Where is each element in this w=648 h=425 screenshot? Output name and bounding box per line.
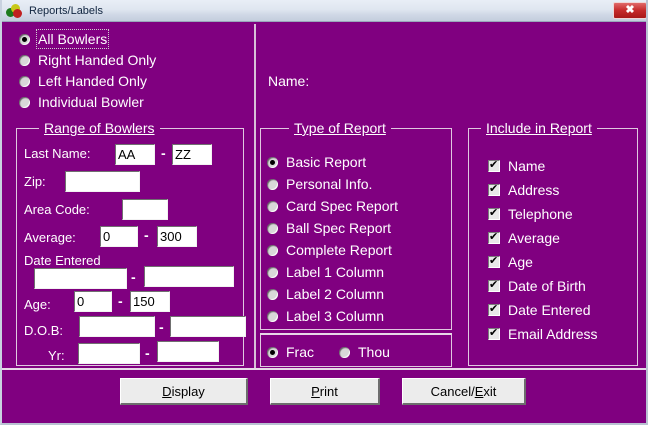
radio-indicator — [267, 223, 278, 234]
dob-separator: - — [159, 319, 164, 335]
display-button-label: Display — [162, 384, 205, 399]
checkbox-label: Date of Birth — [508, 278, 586, 294]
print-button[interactable]: Print — [270, 378, 380, 405]
average-to-input[interactable]: 300 — [157, 226, 197, 247]
zip-input[interactable] — [65, 171, 140, 192]
cancel-exit-button-label: Cancel/Exit — [431, 384, 497, 399]
checkbox-label: Address — [508, 182, 559, 198]
radio-indicator — [19, 97, 30, 108]
checkbox-email-address[interactable]: Email Address — [488, 326, 597, 342]
reports-labels-window: Reports/Labels ✖ All Bowlers Right Hande… — [0, 0, 648, 425]
footer-divider — [2, 368, 648, 370]
last-name-label: Last Name: — [24, 146, 90, 161]
checkbox-label: Average — [508, 230, 560, 246]
age-from-input[interactable]: 0 — [74, 291, 112, 312]
yr-to-input[interactable] — [157, 341, 219, 362]
radio-label: Right Handed Only — [38, 52, 156, 68]
average-label: Average: — [24, 230, 76, 245]
radio-label: Ball Spec Report — [286, 220, 391, 236]
yr-from-input[interactable] — [78, 343, 140, 364]
radio-label: Card Spec Report — [286, 198, 398, 214]
checkbox-label: Date Entered — [508, 302, 591, 318]
checkbox-indicator — [488, 232, 500, 244]
range-of-bowlers-title: Range of Bowlers — [39, 120, 160, 136]
checkbox-age[interactable]: Age — [488, 254, 533, 270]
radio-label-3-column[interactable]: Label 3 Column — [267, 308, 384, 324]
radio-label-1-column[interactable]: Label 1 Column — [267, 264, 384, 280]
close-button[interactable]: ✖ — [613, 2, 647, 19]
bowling-pins-icon — [6, 3, 22, 19]
dob-to-input[interactable] — [170, 316, 246, 337]
radio-label: Basic Report — [286, 154, 366, 170]
age-label: Age: — [24, 297, 51, 312]
checkbox-indicator — [488, 304, 500, 316]
checkbox-telephone[interactable]: Telephone — [488, 206, 573, 222]
display-button[interactable]: Display — [120, 378, 248, 405]
close-icon: ✖ — [625, 5, 634, 16]
radio-left-handed-only[interactable]: Left Handed Only — [19, 73, 147, 89]
checkbox-name[interactable]: Name — [488, 158, 545, 174]
radio-label: Label 2 Column — [286, 286, 384, 302]
print-button-label: Print — [311, 384, 338, 399]
last-name-from-input[interactable]: AA — [115, 144, 155, 165]
yr-separator: - — [145, 345, 150, 361]
date-entered-from-input[interactable] — [34, 268, 127, 289]
radio-label: Label 1 Column — [286, 264, 384, 280]
name-label: Name: — [268, 73, 309, 89]
area-code-input[interactable] — [122, 199, 168, 220]
date-entered-label: Date Entered — [24, 253, 101, 268]
checkbox-indicator — [488, 280, 500, 292]
checkbox-label: Age — [508, 254, 533, 270]
type-of-report-title: Type of Report — [289, 120, 391, 136]
checkbox-date-entered[interactable]: Date Entered — [488, 302, 591, 318]
include-in-report-title: Include in Report — [481, 120, 597, 136]
checkbox-date-of-birth[interactable]: Date of Birth — [488, 278, 586, 294]
radio-indicator — [267, 157, 278, 168]
cancel-exit-button[interactable]: Cancel/Exit — [402, 378, 526, 405]
radio-label: Label 3 Column — [286, 308, 384, 324]
checkbox-indicator — [488, 184, 500, 196]
radio-indicator — [339, 347, 350, 358]
checkbox-label: Telephone — [508, 206, 573, 222]
radio-indicator — [267, 347, 278, 358]
average-from-input[interactable]: 0 — [100, 226, 138, 247]
radio-indicator — [19, 34, 30, 45]
radio-label: Thou — [358, 344, 390, 360]
radio-label: Complete Report — [286, 242, 392, 258]
checkbox-indicator — [488, 160, 500, 172]
zip-label: Zip: — [24, 174, 46, 189]
radio-indicator — [267, 245, 278, 256]
radio-indicator — [19, 76, 30, 87]
checkbox-label: Name — [508, 158, 545, 174]
radio-indicator — [267, 201, 278, 212]
radio-all-bowlers[interactable]: All Bowlers — [19, 31, 107, 47]
checkbox-indicator — [488, 208, 500, 220]
radio-indicator — [267, 179, 278, 190]
age-separator: - — [118, 293, 123, 309]
checkbox-address[interactable]: Address — [488, 182, 559, 198]
last-name-to-input[interactable]: ZZ — [172, 144, 212, 165]
radio-thou[interactable]: Thou — [339, 344, 390, 360]
radio-indicator — [267, 289, 278, 300]
radio-label: Individual Bowler — [38, 94, 144, 110]
date-entered-to-input[interactable] — [144, 266, 234, 287]
panel-divider-left — [254, 24, 256, 368]
checkbox-average[interactable]: Average — [488, 230, 560, 246]
date-entered-separator: - — [131, 269, 136, 285]
radio-frac[interactable]: Frac — [267, 344, 314, 360]
area-code-label: Area Code: — [24, 202, 90, 217]
radio-ball-spec-report[interactable]: Ball Spec Report — [267, 220, 391, 236]
average-separator: - — [144, 227, 149, 243]
checkbox-indicator — [488, 256, 500, 268]
yr-label: Yr: — [48, 348, 65, 363]
last-name-separator: - — [161, 145, 166, 161]
radio-label: All Bowlers — [38, 31, 107, 47]
checkbox-indicator — [488, 328, 500, 340]
checkbox-label: Email Address — [508, 326, 597, 342]
radio-label-2-column[interactable]: Label 2 Column — [267, 286, 384, 302]
radio-label: Frac — [286, 344, 314, 360]
radio-indicator — [267, 311, 278, 322]
radio-indicator — [19, 55, 30, 66]
radio-right-handed-only[interactable]: Right Handed Only — [19, 52, 156, 68]
radio-card-spec-report[interactable]: Card Spec Report — [267, 198, 398, 214]
radio-label: Left Handed Only — [38, 73, 147, 89]
radio-complete-report[interactable]: Complete Report — [267, 242, 392, 258]
radio-label: Personal Info. — [286, 176, 372, 192]
radio-personal-info[interactable]: Personal Info. — [267, 176, 372, 192]
age-to-input[interactable]: 150 — [130, 291, 170, 312]
radio-indicator — [267, 267, 278, 278]
window-title: Reports/Labels — [29, 5, 103, 17]
radio-individual-bowler[interactable]: Individual Bowler — [19, 94, 144, 110]
dob-from-input[interactable] — [79, 316, 155, 337]
dob-label: D.O.B: — [24, 323, 63, 338]
radio-basic-report[interactable]: Basic Report — [267, 154, 366, 170]
title-bar: Reports/Labels ✖ — [2, 0, 648, 22]
